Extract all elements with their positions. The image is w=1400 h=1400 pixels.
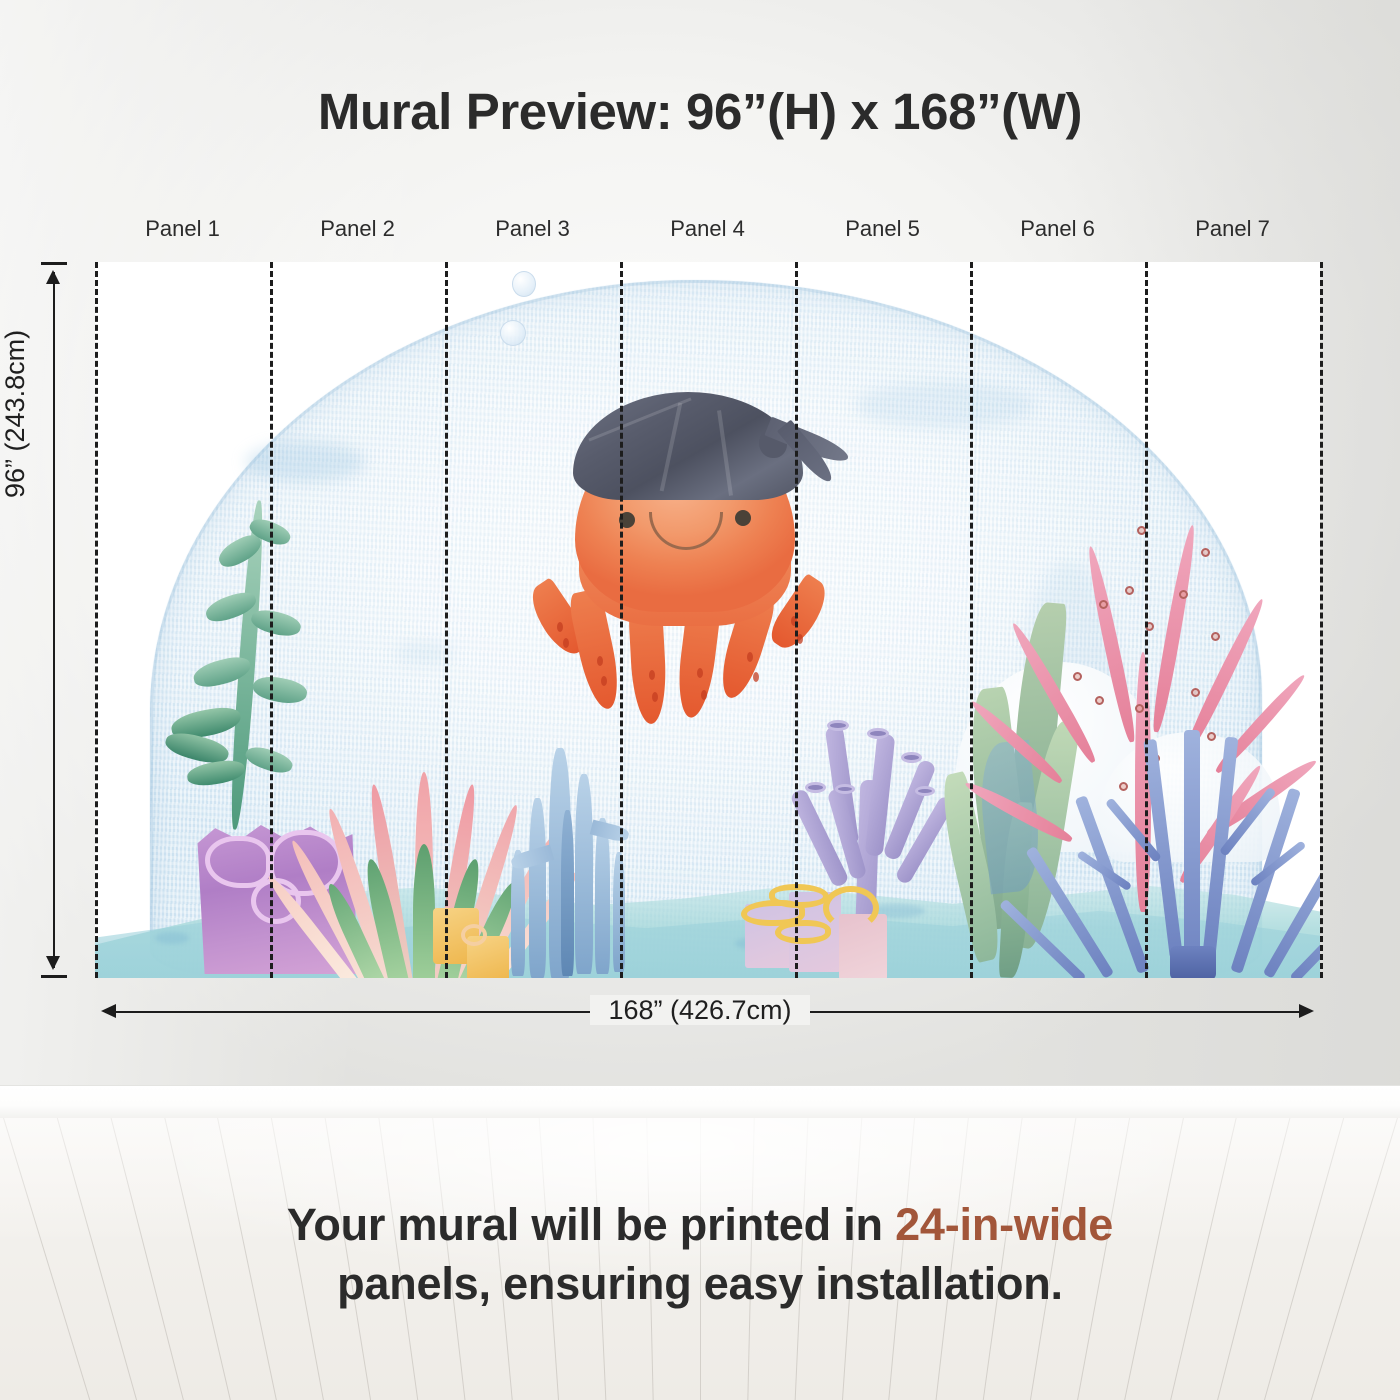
width-dimension-text: 168” (426.7cm) <box>590 995 809 1025</box>
arrowhead-up-icon <box>46 270 60 284</box>
watercolor-blot <box>855 382 1035 428</box>
height-dimension-label: 96” (243.8cm) <box>0 330 31 498</box>
panel-label-3: Panel 3 <box>445 216 620 242</box>
panel-divider-4 <box>795 262 798 978</box>
panel-divider-3 <box>620 262 623 978</box>
panel-divider-1 <box>270 262 273 978</box>
dimension-shaft <box>53 272 55 968</box>
bubble-icon <box>500 320 526 346</box>
panel-label-2: Panel 2 <box>270 216 445 242</box>
yellow-squiggle-coral <box>745 870 925 978</box>
arrowhead-down-icon <box>46 956 60 970</box>
blue-cactus-coral <box>503 740 633 978</box>
dimension-tick-top <box>41 262 67 265</box>
page-title: Mural Preview: 96”(H) x 168”(W) <box>0 82 1400 141</box>
caption-line-1: Your mural will be printed in 24-in-wide <box>0 1196 1400 1255</box>
wall-baseboard <box>0 1085 1400 1121</box>
panel-divider-2 <box>445 262 448 978</box>
caption-accent-panel-width: 24-in-wide <box>895 1199 1113 1250</box>
bubble-icon <box>512 271 536 297</box>
panel-label-5: Panel 5 <box>795 216 970 242</box>
panel-label-6: Panel 6 <box>970 216 1145 242</box>
dimension-tick-bottom <box>41 975 67 978</box>
pirate-octopus-character <box>535 384 835 714</box>
blue-branching-coral <box>1070 700 1320 978</box>
panel-label-4: Panel 4 <box>620 216 795 242</box>
mural-artwork <box>95 262 1320 978</box>
panel-label-7: Panel 7 <box>1145 216 1320 242</box>
panel-label-1: Panel 1 <box>95 216 270 242</box>
print-info-caption: Your mural will be printed in 24-in-wide… <box>0 1196 1400 1313</box>
mural-right-edge-line <box>1320 262 1323 978</box>
width-dimension-label: 168” (426.7cm) <box>0 995 1400 1026</box>
panel-divider-6 <box>1145 262 1148 978</box>
octopus-eye-right <box>735 510 751 526</box>
mural-preview-frame <box>95 262 1320 978</box>
caption-line-2: panels, ensuring easy installation. <box>0 1255 1400 1314</box>
watercolor-blot <box>245 442 365 482</box>
panel-divider-5 <box>970 262 973 978</box>
caption-line1-before: Your mural will be printed in <box>287 1199 895 1250</box>
mural-left-edge-line <box>95 262 98 978</box>
height-dimension-arrow <box>52 262 56 978</box>
seabed-detail <box>155 932 189 944</box>
